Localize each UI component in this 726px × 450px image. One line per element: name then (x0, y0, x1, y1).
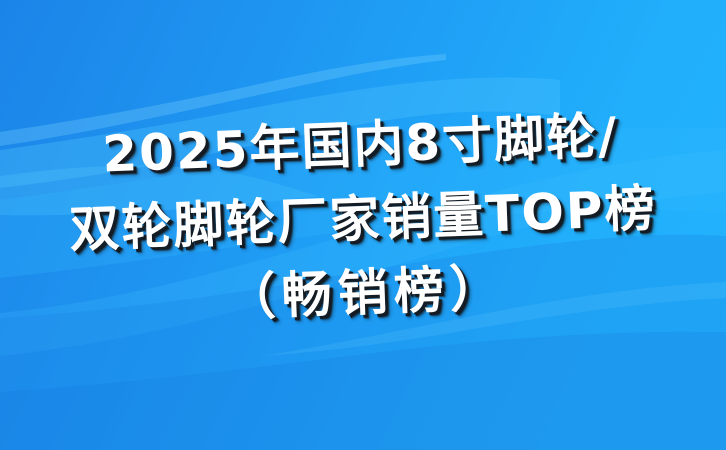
wave-bottom-edge (0, 332, 726, 450)
banner-headline: 2025年国内8寸脚轮/ 双轮脚轮厂家销量TOP榜 （畅销榜） (0, 95, 726, 343)
promo-banner: 2025年国内8寸脚轮/ 双轮脚轮厂家销量TOP榜 （畅销榜） (0, 0, 726, 450)
